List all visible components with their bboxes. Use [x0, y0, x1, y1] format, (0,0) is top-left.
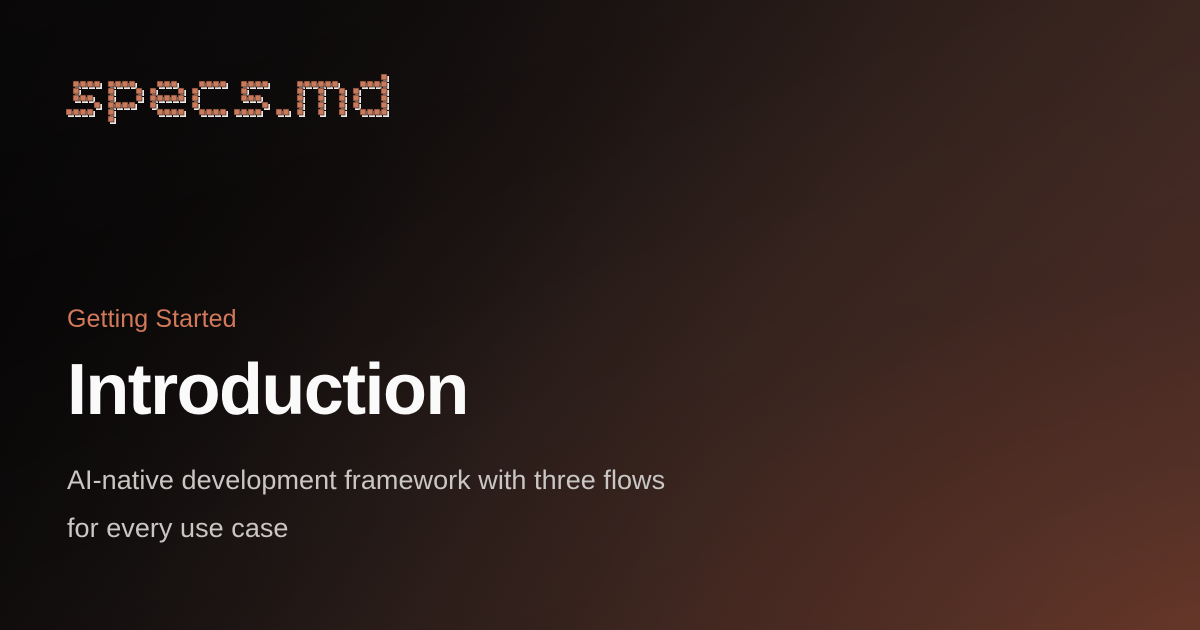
- breadcrumb-eyebrow: Getting Started: [67, 303, 847, 337]
- page-subtitle-line-2: for every use case: [67, 504, 807, 553]
- page-title: Introduction: [67, 353, 847, 428]
- hero-text-block: Getting Started Introduction AI-native d…: [67, 303, 847, 553]
- logo-pixel-glyphs: [66, 74, 392, 127]
- og-preview-card: Getting Started Introduction AI-native d…: [0, 0, 1200, 630]
- page-subtitle-line-1: AI-native development framework with thr…: [67, 456, 807, 505]
- specs-md-logo: [66, 74, 392, 127]
- page-subtitle: AI-native development framework with thr…: [67, 456, 807, 553]
